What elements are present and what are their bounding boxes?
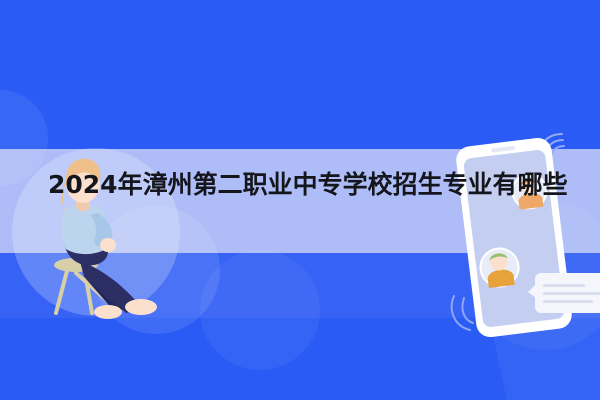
- background-band-top: [0, 0, 600, 149]
- decorative-circle-mid-glow: [200, 250, 320, 370]
- promo-banner: 2024年漳州第二职业中专学校招生专业有哪些: [0, 0, 600, 400]
- page-title: 2024年漳州第二职业中专学校招生专业有哪些: [48, 166, 568, 203]
